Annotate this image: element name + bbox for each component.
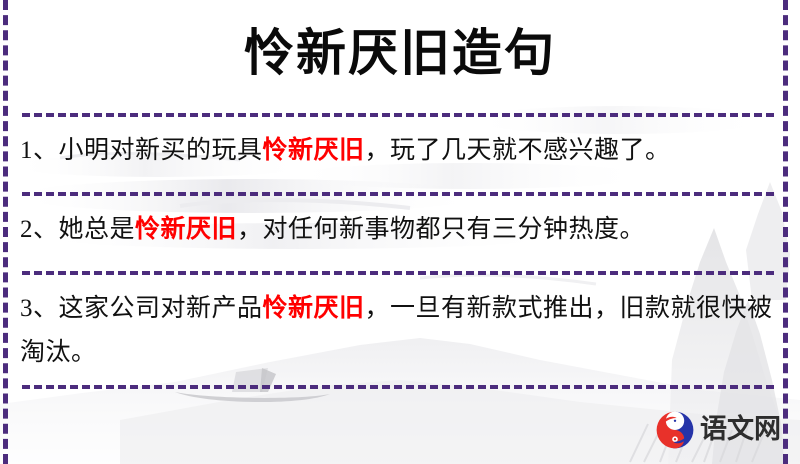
page-title: 怜新厌旧造句 [0,22,800,84]
site-logo[interactable]: 语文网 [655,410,781,450]
sentence-3-number: 3、 [20,295,59,322]
sentence-2-idiom-highlight: 怜新厌旧 [135,216,237,243]
sentence-1-text-before: 小明对新买的玩具 [59,137,263,164]
example-sentence-2: 2、她总是怜新厌旧，对任何新事物都只有三分钟热度。 [20,208,780,252]
sentence-1-number: 1、 [20,137,59,164]
separator-1 [22,113,774,117]
separator-4 [22,385,774,389]
yuwen-yinyang-fish-icon [655,410,695,450]
worksheet-page: 怜新厌旧造句 1、小明对新买的玩具怜新厌旧，玩了几天就不感兴趣了。 2、她总是怜… [0,0,800,464]
example-sentence-1: 1、小明对新买的玩具怜新厌旧，玩了几天就不感兴趣了。 [20,129,780,173]
site-logo-text: 语文网 [700,415,781,445]
separator-3 [22,271,774,275]
sentence-2-number: 2、 [20,216,59,243]
sentence-1-idiom-highlight: 怜新厌旧 [263,137,365,164]
sentence-2-text-before: 她总是 [59,216,136,243]
sentence-2-text-after: ，对任何新事物都只有三分钟热度。 [237,216,645,243]
sentence-3-idiom-highlight: 怜新厌旧 [263,295,365,322]
example-sentence-3: 3、这家公司对新产品怜新厌旧，一旦有新款式推出，旧款就很快被淘汰。 [20,287,780,375]
separator-2 [22,192,774,196]
sentence-1-text-after: ，玩了几天就不感兴趣了。 [365,137,671,164]
sentence-3-text-before: 这家公司对新产品 [59,295,263,322]
